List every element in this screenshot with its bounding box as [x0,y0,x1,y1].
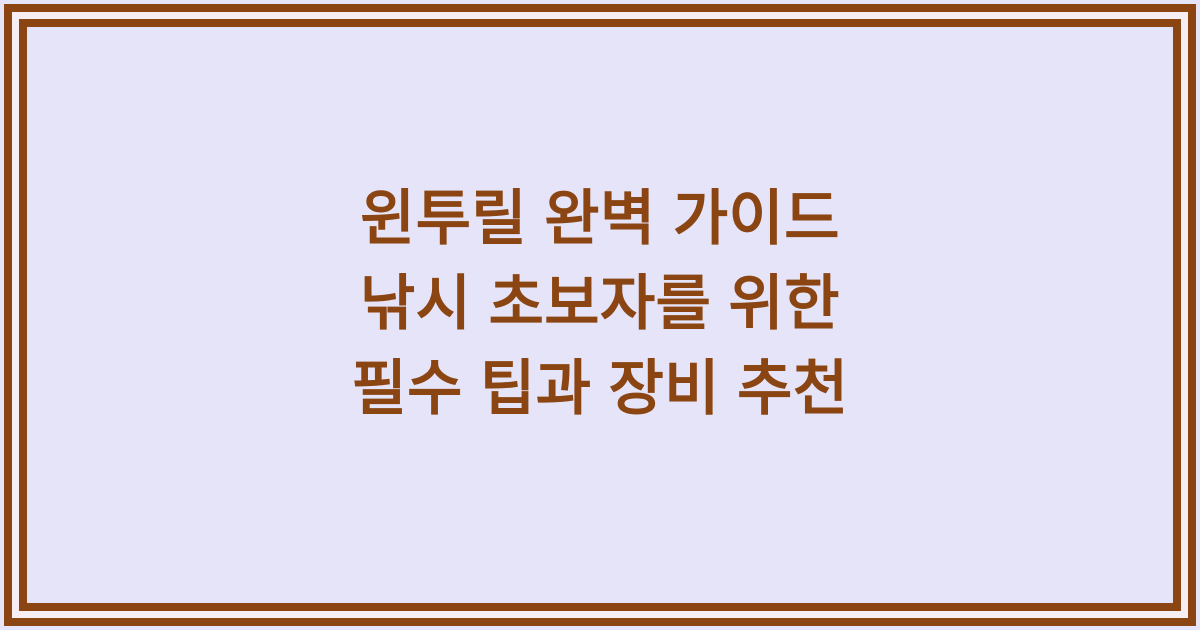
thumbnail-canvas: 윈투릴 완벽 가이드 낚시 초보자를 위한 필수 팁과 장비 추천 [0,0,1200,630]
page-title: 윈투릴 완벽 가이드 낚시 초보자를 위한 필수 팁과 장비 추천 [27,176,1173,455]
decorative-outer-frame: 윈투릴 완벽 가이드 낚시 초보자를 위한 필수 팁과 장비 추천 [4,4,1196,626]
title-line-1: 윈투릴 완벽 가이드 [27,176,1173,261]
title-line-2: 낚시 초보자를 위한 [27,261,1173,346]
title-line-3: 필수 팁과 장비 추천 [27,346,1173,431]
decorative-inner-frame: 윈투릴 완벽 가이드 낚시 초보자를 위한 필수 팁과 장비 추천 [19,19,1181,611]
